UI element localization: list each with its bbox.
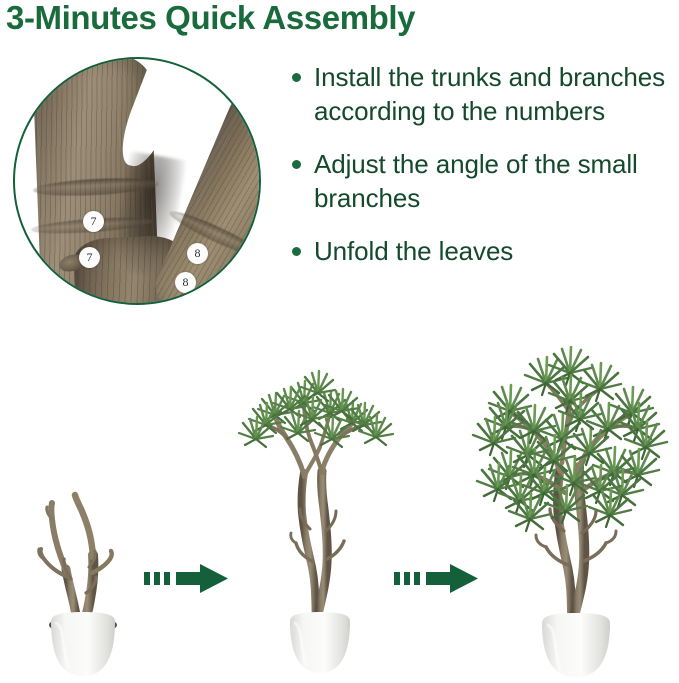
trunk-closeup-circle: 7 7 8 8 — [13, 57, 261, 305]
bullet-dot-icon — [292, 247, 301, 256]
progress-arrow-2 — [394, 561, 480, 595]
bullet-dot-icon — [292, 160, 301, 169]
stage-full-foliage — [470, 343, 670, 683]
sparse-foliage-plant-image — [232, 353, 397, 683]
number-badge-8-lower: 8 — [175, 272, 196, 293]
number-badge-7-upper: 7 — [83, 211, 104, 232]
list-item: Unfold the leaves — [292, 234, 677, 268]
list-item: Install the trunks and branches accordin… — [292, 60, 677, 128]
number-badge-7-lower: 7 — [79, 247, 100, 268]
stage-sparse-leaves — [232, 353, 397, 683]
page-title: 3-Minutes Quick Assembly — [6, 0, 415, 38]
list-item: Adjust the angle of the small branches — [292, 147, 677, 215]
instruction-list: Install the trunks and branches accordin… — [292, 60, 677, 287]
number-badge-8-upper: 8 — [187, 243, 208, 264]
bare-trunk-plant-image — [8, 473, 158, 683]
instruction-text: Adjust the angle of the small branches — [314, 147, 677, 215]
bullet-dot-icon — [292, 73, 301, 82]
instruction-text: Unfold the leaves — [314, 234, 513, 268]
instruction-text: Install the trunks and branches accordin… — [314, 60, 677, 128]
progress-arrow-1 — [144, 561, 230, 595]
stage-bare-trunk — [8, 473, 158, 683]
full-foliage-plant-image — [470, 343, 670, 683]
trunk-closeup-photo: 7 7 8 8 — [15, 59, 259, 303]
